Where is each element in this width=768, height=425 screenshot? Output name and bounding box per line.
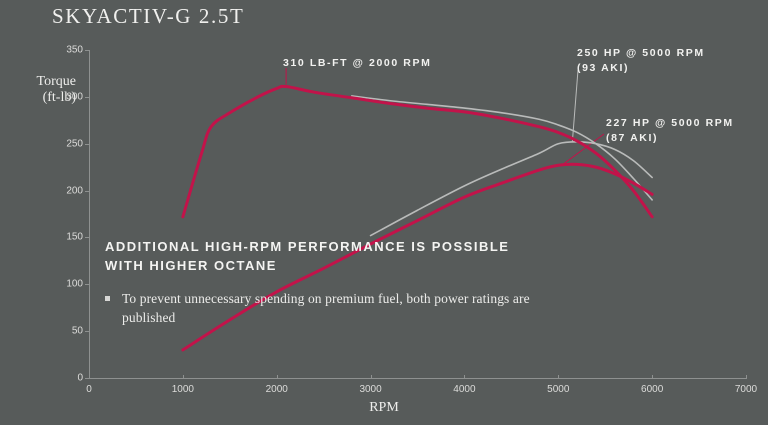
- x-tick-mark: [277, 375, 278, 379]
- y-tick-mark: [85, 331, 89, 332]
- x-tick-label: 4000: [453, 384, 475, 395]
- x-tick-label: 1000: [172, 384, 194, 395]
- text-block-heading-line2: WITH HIGHER OCTANE: [105, 257, 625, 276]
- x-tick-label: 2000: [266, 384, 288, 395]
- y-axis-title-line1: Torque: [4, 74, 76, 90]
- callout-hp-87aki-line1: 227 HP @ 5000 RPM: [606, 116, 734, 131]
- text-block: ADDITIONAL HIGH-RPM PERFORMANCE IS POSSI…: [105, 238, 625, 328]
- y-tick-label: 50: [72, 326, 83, 337]
- y-tick-mark: [85, 284, 89, 285]
- page-title: SKYACTIV-G 2.5T: [52, 4, 244, 29]
- y-tick-mark: [85, 191, 89, 192]
- y-tick-mark: [85, 50, 89, 51]
- y-tick-label: 300: [66, 91, 83, 102]
- y-tick-label: 200: [66, 185, 83, 196]
- x-tick-mark: [371, 375, 372, 379]
- square-bullet-icon: [105, 296, 110, 301]
- x-tick-mark: [464, 375, 465, 379]
- x-tick-label: 6000: [641, 384, 663, 395]
- callout-hp-87aki-line2: (87 AKI): [606, 131, 734, 146]
- callout-hp-93aki-line2: (93 AKI): [577, 61, 705, 76]
- text-block-heading-line1: ADDITIONAL HIGH-RPM PERFORMANCE IS POSSI…: [105, 238, 625, 257]
- y-tick-label: 350: [66, 45, 83, 56]
- callout-hp-87aki: 227 HP @ 5000 RPM (87 AKI): [606, 116, 734, 146]
- y-tick-mark: [85, 144, 89, 145]
- y-tick-label: 100: [66, 279, 83, 290]
- list-item: To prevent unnecessary spending on premi…: [105, 289, 625, 328]
- y-tick-mark: [85, 97, 89, 98]
- callout-hp-93aki-line1: 250 HP @ 5000 RPM: [577, 46, 705, 61]
- y-tick-label: 0: [77, 373, 83, 384]
- y-axis-title-line2: (ft-lb): [4, 90, 76, 106]
- x-tick-mark: [652, 375, 653, 379]
- y-tick-label: 150: [66, 232, 83, 243]
- x-axis-line: [89, 378, 746, 379]
- callout-torque-peak: 310 LB-FT @ 2000 RPM: [283, 56, 431, 71]
- slide-root: SKYACTIV-G 2.5T Torque (ft-lb) 050100150…: [0, 0, 768, 425]
- x-tick-label: 3000: [359, 384, 381, 395]
- x-tick-mark: [558, 375, 559, 379]
- x-tick-label: 0: [86, 384, 92, 395]
- x-tick-label: 7000: [735, 384, 757, 395]
- list-item-label: To prevent unnecessary spending on premi…: [122, 289, 582, 328]
- x-axis-title: RPM: [0, 400, 768, 416]
- plot-area: 050100150200250300350 010002000300040005…: [89, 50, 746, 378]
- y-tick-mark: [85, 237, 89, 238]
- y-axis-line: [89, 50, 90, 378]
- x-tick-mark: [183, 375, 184, 379]
- y-tick-mark: [85, 378, 89, 379]
- text-block-heading: ADDITIONAL HIGH-RPM PERFORMANCE IS POSSI…: [105, 238, 625, 276]
- callout-hp-93aki: 250 HP @ 5000 RPM (93 AKI): [577, 46, 705, 76]
- y-axis-title: Torque (ft-lb): [4, 74, 76, 106]
- x-tick-mark: [746, 375, 747, 379]
- y-tick-label: 250: [66, 138, 83, 149]
- x-tick-label: 5000: [547, 384, 569, 395]
